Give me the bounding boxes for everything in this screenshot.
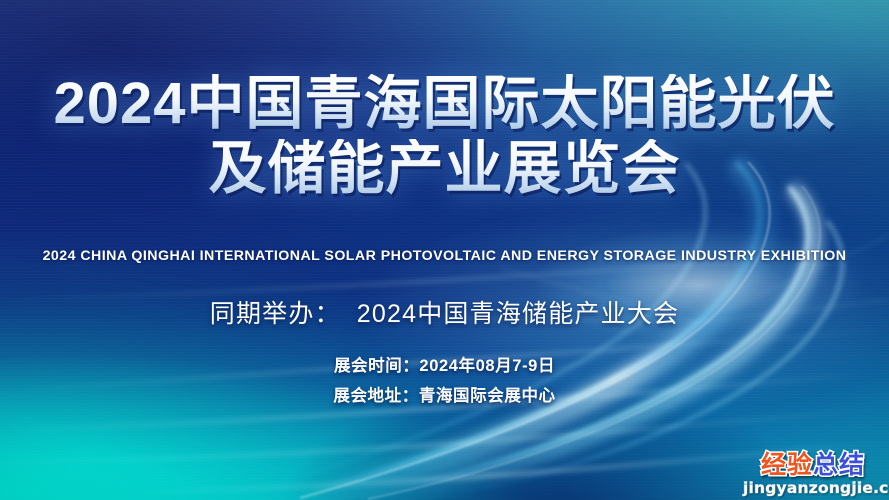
poster-title-line-2: 及储能产业展览会	[0, 139, 889, 198]
watermark-chinese-name: 经验总结	[743, 453, 883, 478]
poster-subtitle-english: 2024 CHINA QINGHAI INTERNATIONAL SOLAR P…	[0, 248, 889, 264]
exhibition-poster: 2024中国青海国际太阳能光伏 及储能产业展览会 2024 CHINA QING…	[0, 0, 889, 500]
poster-title-line-1: 2024中国青海国际太阳能光伏	[0, 74, 889, 133]
event-venue-line: 展会地址：青海国际会展中心	[0, 382, 889, 406]
event-info-block: 展会时间：2024年08月7-9日 展会地址：青海国际会展中心	[0, 352, 889, 412]
concurrent-event-line: 同期举办：2024中国青海储能产业大会	[0, 294, 889, 330]
watermark-url: jingyanzongjie.com	[743, 481, 883, 497]
poster-content: 2024中国青海国际太阳能光伏 及储能产业展览会 2024 CHINA QING…	[0, 0, 889, 500]
watermark-chinese-part1: 经验	[761, 451, 813, 479]
concurrent-event-name: 2024中国青海储能产业大会	[357, 300, 679, 328]
concurrent-event-label: 同期举办：	[210, 300, 341, 328]
poster-title-block: 2024中国青海国际太阳能光伏 及储能产业展览会	[0, 74, 889, 198]
site-watermark: 经验总结 jingyanzongjie.com	[743, 453, 883, 497]
watermark-chinese-part2: 总结	[813, 451, 865, 479]
event-date-line: 展会时间：2024年08月7-9日	[0, 352, 889, 376]
